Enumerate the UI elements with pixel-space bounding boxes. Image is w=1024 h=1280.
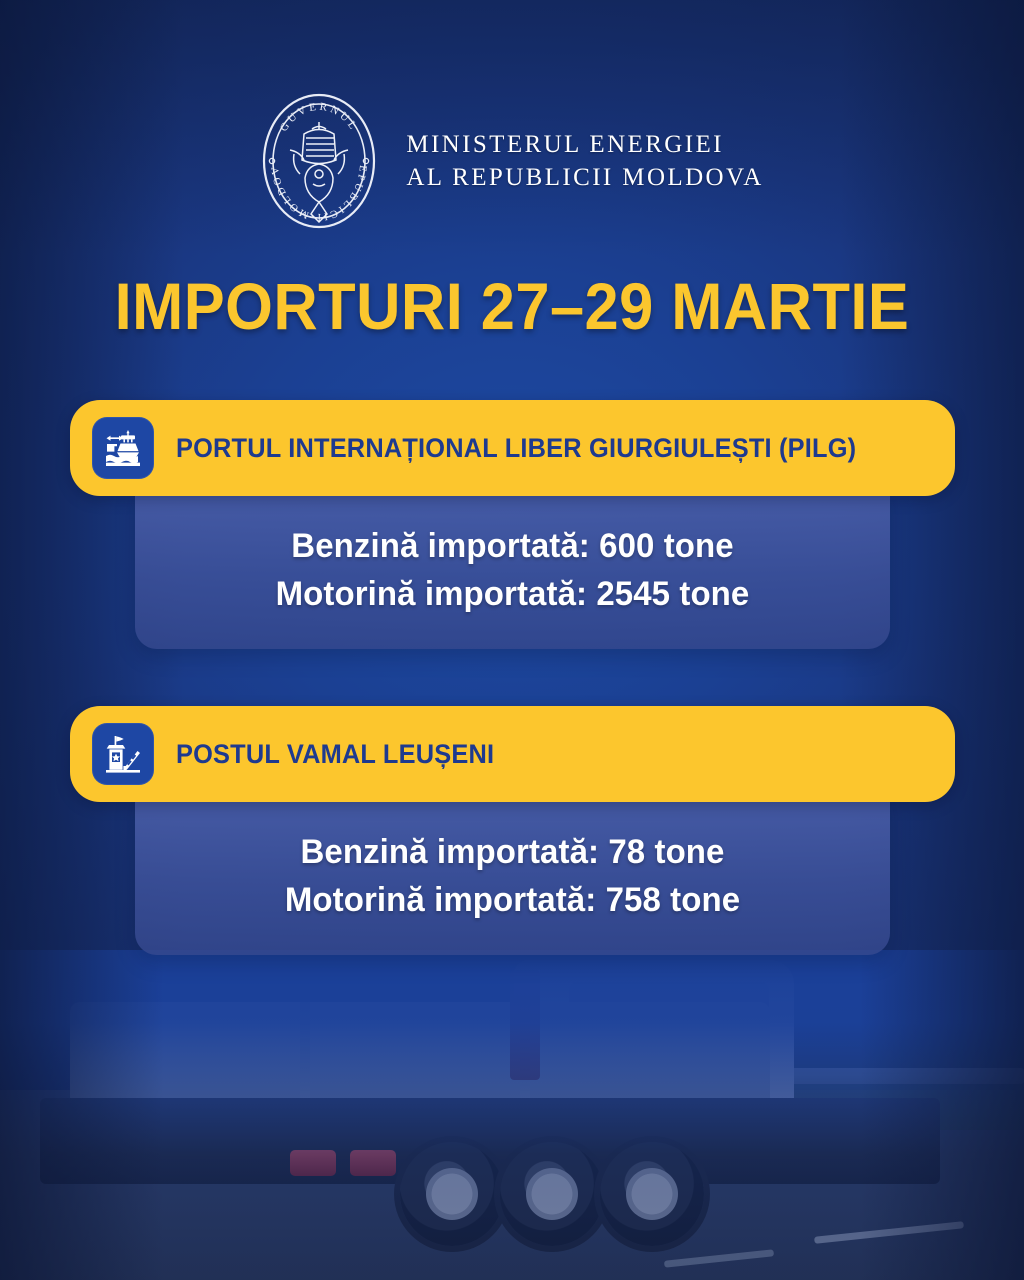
section-label: PORTUL INTERNAȚIONAL LIBER GIURGIULEȘTI … xyxy=(176,433,856,464)
section-data-panel: Benzină importată: 600 tone Motorină imp… xyxy=(135,486,890,649)
section-label: POSTUL VAMAL LEUȘENI xyxy=(176,739,494,770)
ministry-name: MINISTERUL ENERGIEI AL REPUBLICII MOLDOV… xyxy=(406,128,763,195)
customs-booth-barrier-icon xyxy=(92,723,154,785)
section-header-badge[interactable]: PORTUL INTERNAȚIONAL LIBER GIURGIULEȘTI … xyxy=(70,400,955,496)
section-header-badge[interactable]: POSTUL VAMAL LEUȘENI xyxy=(70,706,955,802)
ministry-line-1: MINISTERUL ENERGIEI xyxy=(406,128,763,161)
data-line-motorina: Motorină importată: 758 tone xyxy=(175,876,849,924)
moldova-government-seal-icon: GUVERNUL REPUBLICII MOLDOVA xyxy=(260,92,378,230)
section-port-giurgiulesti: PORTUL INTERNAȚIONAL LIBER GIURGIULEȘTI … xyxy=(0,400,1024,649)
header: GUVERNUL REPUBLICII MOLDOVA MINISTERUL E… xyxy=(0,92,1024,230)
ministry-line-2: AL REPUBLICII MOLDOVA xyxy=(406,161,763,194)
data-line-benzina: Benzină importată: 78 tone xyxy=(175,828,849,876)
data-line-motorina: Motorină importată: 2545 tone xyxy=(175,570,849,618)
page-title: IMPORTURI 27–29 MARTIE xyxy=(36,268,988,344)
infographic-content: GUVERNUL REPUBLICII MOLDOVA MINISTERUL E… xyxy=(0,0,1024,1280)
section-data-panel: Benzină importată: 78 tone Motorină impo… xyxy=(135,792,890,955)
section-vama-leuseni: POSTUL VAMAL LEUȘENI Benzină importată: … xyxy=(0,706,1024,955)
port-ship-icon xyxy=(92,417,154,479)
data-line-benzina: Benzină importată: 600 tone xyxy=(175,522,849,570)
